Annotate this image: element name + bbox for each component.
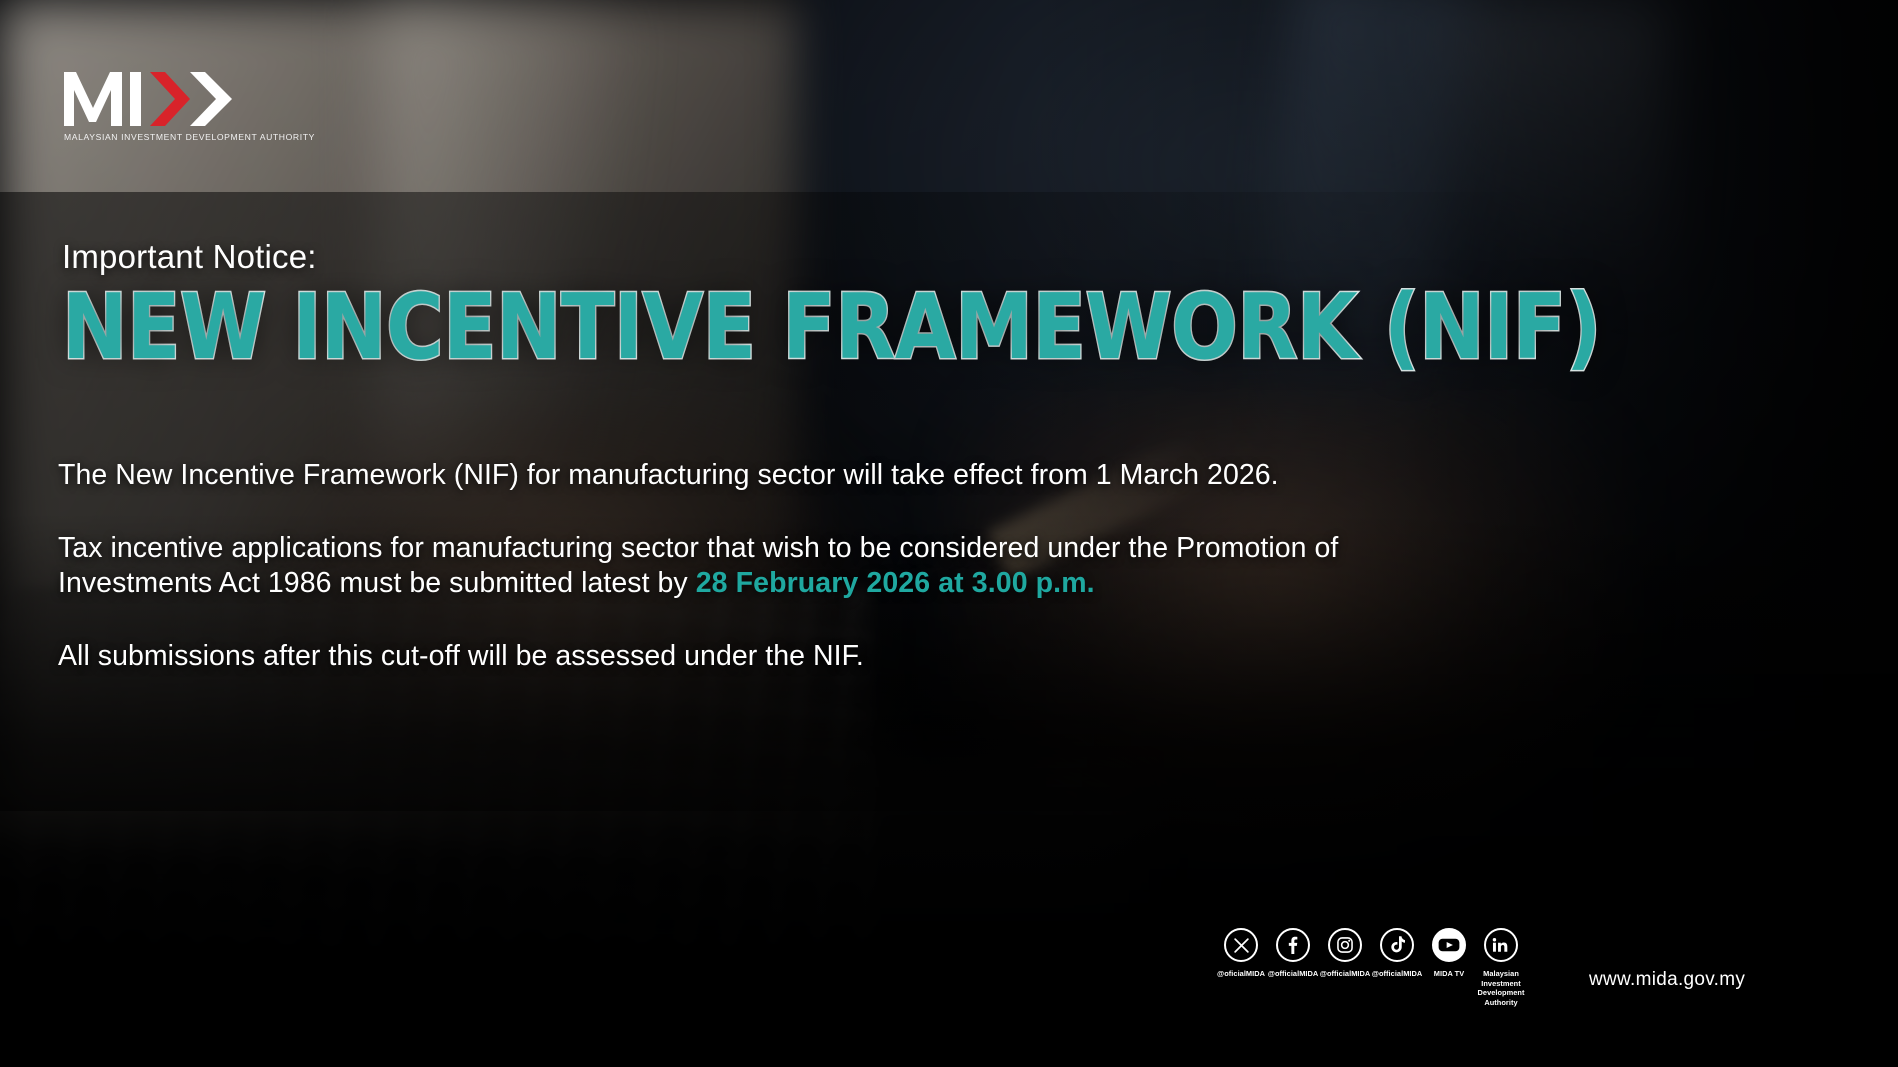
- facebook-icon: [1276, 928, 1310, 962]
- paragraph-submission-deadline: Tax incentive applications for manufactu…: [58, 531, 1478, 601]
- social-label-tiktok: @officialMIDA: [1372, 969, 1423, 979]
- social-label-facebook: @officialMIDA: [1268, 969, 1319, 979]
- headline-block: Important Notice: NEW INCENTIVE FRAMEWOR…: [62, 238, 1556, 359]
- social-label-instagram: @officialMIDA: [1320, 969, 1371, 979]
- paragraph-effective-date: The New Incentive Framework (NIF) for ma…: [58, 458, 1478, 493]
- x-twitter-icon: [1224, 928, 1258, 962]
- tiktok-icon: [1380, 928, 1414, 962]
- mida-logo: MALAYSIAN INVESTMENT DEVELOPMENT AUTHORI…: [64, 70, 315, 142]
- poster-content: MALAYSIAN INVESTMENT DEVELOPMENT AUTHORI…: [0, 0, 1898, 1067]
- social-link-facebook[interactable]: @officialMIDA: [1267, 928, 1319, 1008]
- social-label-linkedin: Malaysian Investment Development Authori…: [1475, 969, 1527, 1008]
- mida-logo-tagline: MALAYSIAN INVESTMENT DEVELOPMENT AUTHORI…: [64, 132, 315, 142]
- body-copy: The New Incentive Framework (NIF) for ma…: [58, 458, 1478, 674]
- social-links: @oficialMIDA @officialMIDA: [1215, 928, 1527, 1008]
- linkedin-icon: [1484, 928, 1518, 962]
- notice-poster: MALAYSIAN INVESTMENT DEVELOPMENT AUTHORI…: [0, 0, 1898, 1067]
- deadline-highlight: 28 February 2026 at 3.00 p.m.: [696, 567, 1095, 599]
- social-label-x: @oficialMIDA: [1217, 969, 1265, 979]
- instagram-icon: [1328, 928, 1362, 962]
- social-label-youtube: MIDA TV: [1434, 969, 1464, 979]
- social-link-tiktok[interactable]: @officialMIDA: [1371, 928, 1423, 1008]
- page-title: NEW INCENTIVE FRAMEWORK (NIF): [62, 280, 1601, 373]
- youtube-icon: [1432, 928, 1466, 962]
- paragraph-post-cutoff: All submissions after this cut-off will …: [58, 639, 1478, 674]
- social-link-youtube[interactable]: MIDA TV: [1423, 928, 1475, 1008]
- social-link-x[interactable]: @oficialMIDA: [1215, 928, 1267, 1008]
- mida-logo-mark: [64, 70, 234, 128]
- website-url[interactable]: www.mida.gov.my: [1589, 969, 1745, 991]
- kicker-important-notice: Important Notice:: [62, 238, 1556, 276]
- social-link-linkedin[interactable]: Malaysian Investment Development Authori…: [1475, 928, 1527, 1008]
- footer: @oficialMIDA @officialMIDA: [1215, 928, 1745, 1008]
- social-link-instagram[interactable]: @officialMIDA: [1319, 928, 1371, 1008]
